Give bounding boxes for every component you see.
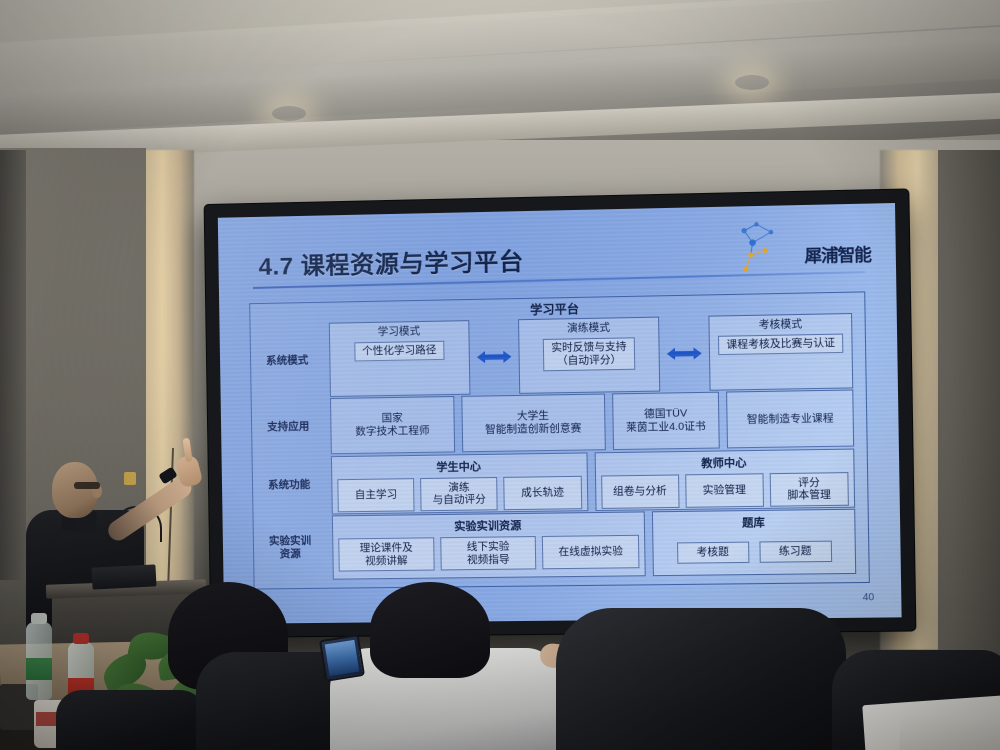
chair <box>556 608 846 750</box>
row-body: 实验实训资源 理论课件及 视频讲解 线下实验 视频指导 在线虚拟实验 题库 <box>332 509 856 580</box>
card-inner: 实时反馈与支持 （自动评分） <box>543 337 635 371</box>
glasses-icon <box>74 482 100 489</box>
slide-page-number: 40 <box>863 592 875 603</box>
laptop[interactable] <box>91 564 156 589</box>
presentation-display[interactable]: 4.7 课程资源与学习平台 <box>205 189 916 637</box>
card-title: 学习模式 <box>378 325 421 339</box>
attendee-head <box>370 582 490 678</box>
application-card[interactable]: 大学生 智能制造创新创意赛 <box>461 394 605 453</box>
logo-network-icon <box>736 220 784 276</box>
chair <box>56 690 206 750</box>
row-label: 系统模式 <box>251 323 324 398</box>
company-logo: 犀浦智能 <box>738 214 873 276</box>
right-wall <box>938 150 1000 670</box>
row-label: 系统功能 <box>253 456 326 515</box>
question-chip[interactable]: 考核题 <box>677 542 749 564</box>
resource-chip[interactable]: 在线虚拟实验 <box>542 535 639 570</box>
group-chips: 组卷与分析 实验管理 评分 脚本管理 <box>601 472 849 509</box>
group-chips: 考核题 练习题 <box>658 532 849 563</box>
group-chips: 自主学习 演练 与自动评分 成长轨迹 <box>337 475 581 512</box>
function-chip[interactable]: 实验管理 <box>685 473 764 508</box>
function-chip[interactable]: 成长轨迹 <box>504 475 582 510</box>
group-lab-resources: 实验实训资源 理论课件及 视频讲解 线下实验 视频指导 在线虚拟实验 <box>332 511 646 579</box>
function-chip[interactable]: 评分 脚本管理 <box>770 472 849 507</box>
platform-diagram: 学习平台 系统模式 学习模式 个性化学习路径 <box>249 291 870 589</box>
diagram-rows: 系统模式 学习模式 个性化学习路径 <box>250 311 862 585</box>
row-label: 支持应用 <box>252 398 325 455</box>
application-card[interactable]: 智能制造专业课程 <box>726 390 854 449</box>
card-title: 考核模式 <box>759 318 803 332</box>
group-title: 题库 <box>742 514 765 531</box>
diagram-row: 系统模式 学习模式 个性化学习路径 <box>251 313 854 398</box>
ceiling-downlight <box>272 106 306 121</box>
smartphone[interactable] <box>319 634 365 682</box>
connector-arrow-icon <box>476 319 512 394</box>
row-label: 实验实训 资源 <box>254 515 327 580</box>
slide: 4.7 课程资源与学习平台 <box>218 203 902 624</box>
slide-title: 4.7 课程资源与学习平台 <box>258 241 524 282</box>
function-chip[interactable]: 演练 与自动评分 <box>420 477 498 511</box>
group-title: 实验实训资源 <box>454 517 521 534</box>
group-title: 学生中心 <box>436 458 481 475</box>
group-teacher-center: 教师中心 组卷与分析 实验管理 评分 脚本管理 <box>594 448 855 510</box>
papers <box>899 715 1000 750</box>
diagram-row: 系统功能 学生中心 自主学习 演练 与自动评分 成长轨迹 <box>253 448 856 515</box>
diagram-row: 支持应用 国家 数字技术工程师 大学生 智能制造创新创意赛 德国TÜV 莱茵工业… <box>252 390 854 456</box>
mode-card-practice[interactable]: 演练模式 实时反馈与支持 （自动评分） <box>518 317 661 394</box>
card-inner: 个性化学习路径 <box>354 341 445 362</box>
water-bottle <box>26 622 52 700</box>
row-body: 学生中心 自主学习 演练 与自动评分 成长轨迹 教师中心 <box>331 448 855 514</box>
group-title: 教师中心 <box>701 454 747 471</box>
mode-card-assessment[interactable]: 考核模式 课程考核及比赛与认证 <box>709 313 854 391</box>
photo-scene: 4.7 课程资源与学习平台 <box>0 0 1000 750</box>
card-title: 演练模式 <box>567 322 610 336</box>
wall-switch <box>124 472 136 485</box>
connector-arrow-icon <box>667 316 703 392</box>
row-body: 国家 数字技术工程师 大学生 智能制造创新创意赛 德国TÜV 莱茵工业4.0证书… <box>330 390 854 455</box>
ceiling-downlight <box>735 75 769 90</box>
logo-wordmark: 犀浦智能 <box>804 240 871 267</box>
resource-chip[interactable]: 理论课件及 视频讲解 <box>338 537 434 571</box>
card-inner: 课程考核及比赛与认证 <box>718 334 843 355</box>
row-body: 学习模式 个性化学习路径 演练模式 实 <box>329 313 853 397</box>
diagram-row: 实验实训 资源 实验实训资源 理论课件及 视频讲解 线下实验 视频指导 在线虚拟… <box>254 509 857 581</box>
application-card[interactable]: 德国TÜV 莱茵工业4.0证书 <box>612 392 720 450</box>
mode-card-learning[interactable]: 学习模式 个性化学习路径 <box>329 320 470 397</box>
group-student-center: 学生中心 自主学习 演练 与自动评分 成长轨迹 <box>331 452 588 514</box>
function-chip[interactable]: 组卷与分析 <box>601 474 680 509</box>
group-chips: 理论课件及 视频讲解 线下实验 视频指导 在线虚拟实验 <box>338 535 639 572</box>
display-screen[interactable]: 4.7 课程资源与学习平台 <box>218 203 902 624</box>
application-card[interactable]: 国家 数字技术工程师 <box>330 396 455 454</box>
group-question-bank: 题库 考核题 练习题 <box>652 509 856 576</box>
question-chip[interactable]: 练习题 <box>759 541 832 563</box>
function-chip[interactable]: 自主学习 <box>337 478 414 512</box>
resource-chip[interactable]: 线下实验 视频指导 <box>440 536 537 571</box>
